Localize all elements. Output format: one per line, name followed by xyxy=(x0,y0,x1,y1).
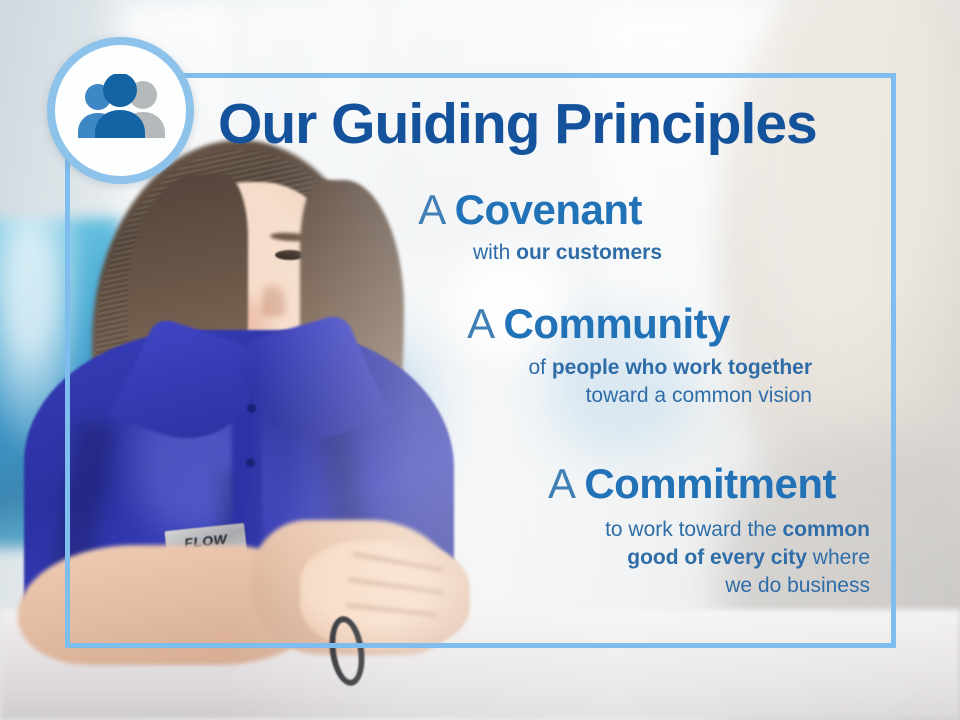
principle-word: Community xyxy=(504,300,731,347)
principle-subline: with our customers xyxy=(0,239,662,267)
principle-article: A xyxy=(418,186,454,233)
subline-part: where xyxy=(807,546,870,569)
principle-heading: A Commitment xyxy=(0,462,878,506)
principle-subline: we do business xyxy=(0,572,870,600)
people-group-badge xyxy=(47,37,194,184)
subline-part: toward a common vision xyxy=(586,384,812,407)
subline-part-bold: common xyxy=(782,518,870,541)
subline-part: with xyxy=(473,241,516,264)
principle-subline: of people who work together xyxy=(0,354,812,382)
principle-subtext: of people who work together toward a com… xyxy=(0,354,820,409)
subline-part-bold: people who work together xyxy=(552,356,812,379)
subline-part-bold: good of every city xyxy=(627,546,807,569)
principle-covenant: A Covenant with our customers xyxy=(0,188,690,267)
people-group-icon xyxy=(69,74,173,148)
subline-part: to work toward the xyxy=(605,518,782,541)
subline-part: of xyxy=(528,356,551,379)
page-title: Our Guiding Principles xyxy=(218,96,878,153)
principle-commitment: A Commitment to work toward the common g… xyxy=(0,462,878,599)
subline-part: we do business xyxy=(725,574,870,597)
principle-word: Covenant xyxy=(455,186,642,233)
principle-subline: toward a common vision xyxy=(0,382,812,410)
principle-community: A Community of people who work together … xyxy=(0,302,820,410)
principle-heading: A Community xyxy=(0,302,820,346)
principle-article: A xyxy=(467,300,503,347)
principle-subtext: to work toward the common good of every … xyxy=(0,516,878,599)
principle-subline: to work toward the common xyxy=(0,516,870,544)
principle-subline: good of every city where xyxy=(0,544,870,572)
banner-graphic: FLOW AUTOMOTIVE FLOW xyxy=(0,0,960,720)
principle-subtext: with our customers xyxy=(0,239,690,267)
subline-part-bold: our customers xyxy=(516,241,662,264)
principle-article: A xyxy=(548,460,584,507)
principle-heading: A Covenant xyxy=(0,188,690,232)
principle-word: Commitment xyxy=(584,460,836,507)
